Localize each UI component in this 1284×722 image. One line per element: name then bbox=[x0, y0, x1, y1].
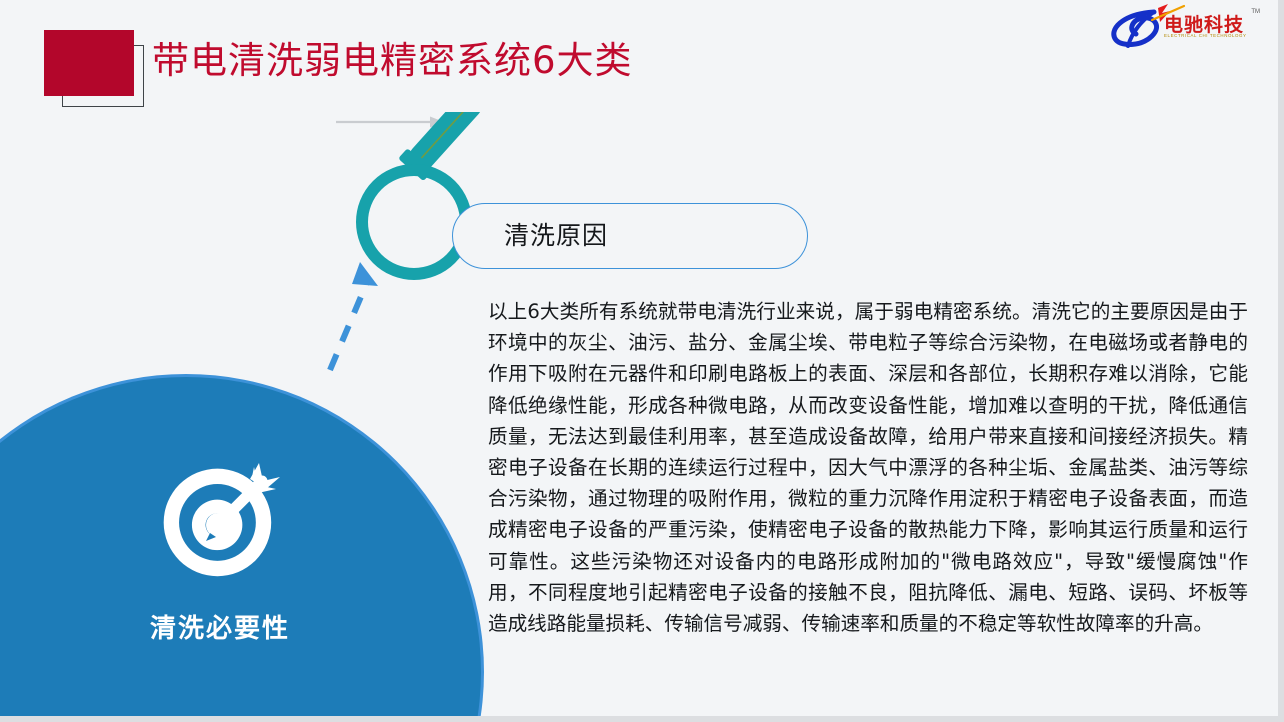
company-logo: 电驰科技 ELECTRICAL CHI TECHNOLOGY TM bbox=[1102, 2, 1262, 50]
title-square-decoration bbox=[44, 30, 134, 96]
cleaning-necessity-label: 清洗必要性 bbox=[0, 608, 440, 645]
presentation-slide: 电驰科技 ELECTRICAL CHI TECHNOLOGY TM 带电清洗弱电… bbox=[0, 0, 1284, 722]
page-title: 带电清洗弱电精密系统6大类 bbox=[152, 38, 633, 84]
dashed-arrow-up-icon bbox=[322, 258, 392, 378]
body-paragraph: 以上6大类所有系统就带电清洗行业来说，属于弱电精密系统。清洗它的主要原因是由于环… bbox=[488, 296, 1248, 639]
logo-trademark: TM bbox=[1251, 9, 1260, 15]
target-arrow-icon bbox=[158, 455, 286, 583]
cleaning-reason-label: 清洗原因 bbox=[504, 220, 608, 252]
logo-company-name-en: ELECTRICAL CHI TECHNOLOGY bbox=[1164, 33, 1247, 38]
